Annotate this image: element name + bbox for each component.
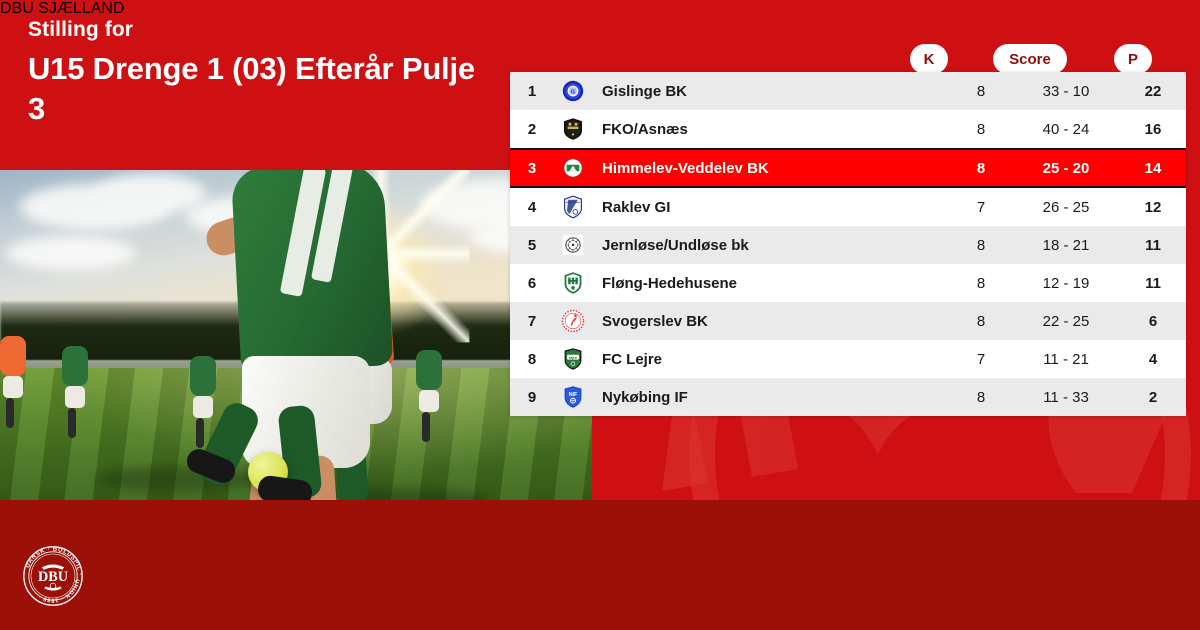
row-goal-score: 25 - 20 [1012, 160, 1120, 177]
row-position: 5 [510, 237, 554, 254]
nykoebing-if-crest: NIF [554, 385, 592, 409]
column-header-p: P [1114, 44, 1152, 74]
row-matches-played: 8 [950, 389, 1012, 406]
poster-footer [0, 500, 1200, 630]
row-goal-score: 11 - 21 [1012, 351, 1120, 368]
row-goal-score: 33 - 10 [1012, 83, 1120, 100]
photo-background-player [0, 336, 26, 428]
row-team-name[interactable]: Himmelev-Veddelev BK [592, 160, 950, 177]
row-matches-played: 8 [950, 83, 1012, 100]
table-row[interactable]: 1GGislinge BK833 - 1022 [510, 72, 1186, 110]
row-goal-score: 18 - 21 [1012, 237, 1120, 254]
row-goal-score: 12 - 19 [1012, 275, 1120, 292]
gislinge-bk-crest: G [554, 79, 592, 103]
svogerslev-bk-crest [554, 309, 592, 333]
row-points: 11 [1120, 237, 1186, 254]
row-points: 14 [1120, 160, 1186, 177]
table-row[interactable]: 2FKO/Asnæs840 - 2416 [510, 110, 1186, 148]
row-matches-played: 8 [950, 313, 1012, 330]
table-row[interactable]: 4Raklev GI726 - 2512 [510, 188, 1186, 226]
table-row[interactable]: 6Fløng-Hedehusene812 - 1911 [510, 264, 1186, 302]
table-row[interactable]: 7Svogerslev BK822 - 256 [510, 302, 1186, 340]
dbu-seal-logo: DANSK · BOLDSPIL · UNION · 1889 · DBU [22, 545, 84, 612]
row-team-name[interactable]: Fløng-Hedehusene [592, 275, 950, 292]
row-points: 12 [1120, 199, 1186, 216]
row-points: 6 [1120, 313, 1186, 330]
row-points: 22 [1120, 83, 1186, 100]
row-points: 11 [1120, 275, 1186, 292]
row-goal-score: 26 - 25 [1012, 199, 1120, 216]
column-header-score: Score [993, 44, 1067, 74]
row-position: 2 [510, 121, 554, 138]
page-title: U15 Drenge 1 (03) Efterår Pulje 3 [28, 49, 498, 128]
row-position: 6 [510, 275, 554, 292]
row-team-name[interactable]: Svogerslev BK [592, 313, 950, 330]
row-points: 16 [1120, 121, 1186, 138]
table-row[interactable]: 3Himmelev-Veddelev BK825 - 2014 [510, 148, 1186, 188]
row-team-name[interactable]: Gislinge BK [592, 83, 950, 100]
row-team-name[interactable]: Jernløse/Undløse bk [592, 237, 950, 254]
row-position: 3 [510, 160, 554, 177]
fc-lejre-crest: lejre [554, 347, 592, 371]
table-row[interactable]: 9NIFNykøbing IF811 - 332 [510, 378, 1186, 416]
table-row[interactable]: 8lejreFC Lejre711 - 214 [510, 340, 1186, 378]
header-kicker: Stilling for [28, 18, 498, 41]
hero-photo [0, 170, 592, 500]
row-goal-score: 22 - 25 [1012, 313, 1120, 330]
column-header-k: K [910, 44, 948, 74]
table-row[interactable]: 5Jernløse/Undløse bk818 - 2111 [510, 226, 1186, 264]
row-position: 1 [510, 83, 554, 100]
row-team-name[interactable]: FC Lejre [592, 351, 950, 368]
table-column-headers: K Score P [510, 44, 1186, 74]
svg-text:lejre: lejre [569, 355, 578, 360]
jernloese-undloese-bk-crest [554, 233, 592, 257]
row-matches-played: 8 [950, 237, 1012, 254]
row-team-name[interactable]: Nykøbing IF [592, 389, 950, 406]
row-matches-played: 8 [950, 160, 1012, 177]
row-goal-score: 40 - 24 [1012, 121, 1120, 138]
row-team-name[interactable]: FKO/Asnæs [592, 121, 950, 138]
photo-background-player [416, 350, 442, 442]
row-position: 7 [510, 313, 554, 330]
row-team-name[interactable]: Raklev GI [592, 199, 950, 216]
raklev-gi-crest [554, 195, 592, 219]
poster-canvas: Stilling for U15 Drenge 1 (03) Efterår P… [0, 0, 1200, 630]
row-position: 9 [510, 389, 554, 406]
himmelev-veddelev-bk-crest [554, 156, 592, 180]
row-matches-played: 7 [950, 351, 1012, 368]
photo-background-player [62, 346, 88, 438]
footer-brand-name: DBU SJÆLLAND [0, 0, 1200, 18]
row-position: 8 [510, 351, 554, 368]
poster-header: Stilling for U15 Drenge 1 (03) Efterår P… [28, 18, 498, 128]
floeng-hedehusene-crest [554, 271, 592, 295]
row-matches-played: 7 [950, 199, 1012, 216]
svg-text:G: G [571, 89, 575, 95]
standings-table: 1GGislinge BK833 - 10222FKO/Asnæs840 - 2… [510, 72, 1186, 416]
row-points: 2 [1120, 389, 1186, 406]
row-goal-score: 11 - 33 [1012, 389, 1120, 406]
fko-asnaes-crest [554, 117, 592, 141]
svg-text:NIF: NIF [569, 392, 578, 398]
row-position: 4 [510, 199, 554, 216]
row-points: 4 [1120, 351, 1186, 368]
svg-text:DBU: DBU [38, 569, 68, 585]
row-matches-played: 8 [950, 121, 1012, 138]
row-matches-played: 8 [950, 275, 1012, 292]
